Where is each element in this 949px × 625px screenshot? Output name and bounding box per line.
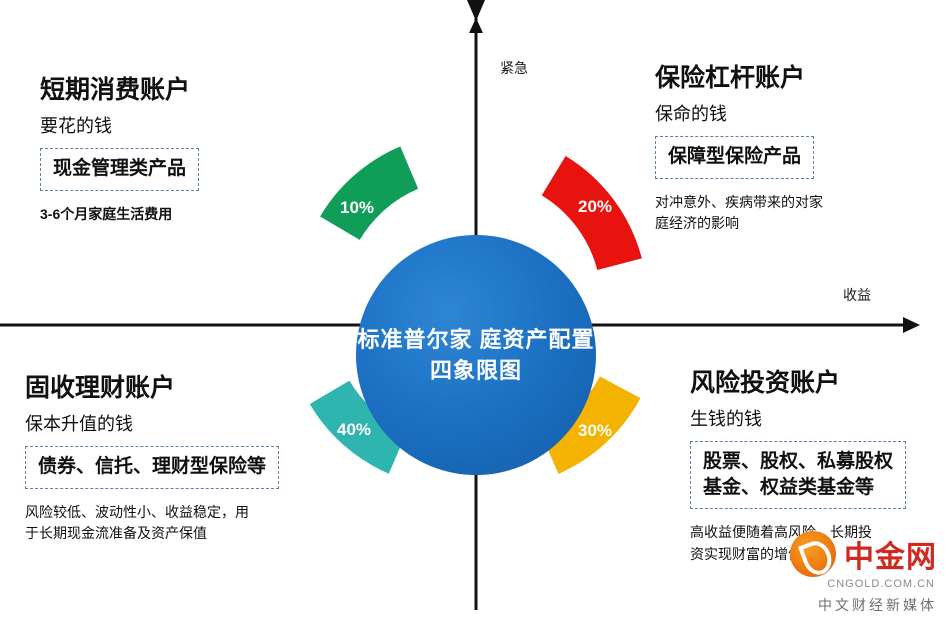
quadrant-top-right: 保险杠杆账户 保命的钱 保障型保险产品 对冲意外、疾病带来的对家 庭经济的影响 [655, 58, 935, 235]
quadrant-top-left-product: 现金管理类产品 [40, 148, 199, 191]
quadrant-top-right-title: 保险杠杆账户 [655, 58, 935, 94]
cngold-logo-icon [790, 531, 836, 577]
quadrant-top-right-subtitle: 保命的钱 [655, 100, 935, 126]
quadrant-bottom-left-subtitle: 保本升值的钱 [25, 410, 355, 436]
watermark-logo-row: 中金网 [790, 531, 937, 577]
center-circle: 标准普尔家 庭资产配置 四象限图 [356, 235, 596, 475]
segment-arc-top-right [554, 176, 620, 265]
axis-label-return: 收益 [843, 285, 871, 305]
quadrant-top-left: 短期消费账户 要花的钱 现金管理类产品 3-6个月家庭生活费用 [40, 70, 340, 225]
watermark: 中金网 CNGOLD.COM.CN 中文财经新媒体 [790, 531, 937, 615]
quadrant-bottom-left-title: 固收理财账户 [25, 368, 355, 404]
quadrant-top-left-title: 短期消费账户 [40, 70, 340, 106]
quadrant-bottom-left-note: 风险较低、波动性小、收益稳定，用 于长期现金流准备及资产保值 [25, 502, 355, 545]
quadrant-bottom-right-product: 股票、股权、私募股权 基金、权益类基金等 [690, 441, 906, 509]
percent-top-left: 10% [340, 198, 374, 218]
percent-bottom-right: 30% [578, 421, 612, 441]
quadrant-bottom-left-product: 债券、信托、理财型保险等 [25, 446, 279, 489]
quadrant-top-right-product: 保障型保险产品 [655, 136, 814, 179]
horizontal-axis-arrow [903, 317, 920, 333]
watermark-url: CNGOLD.COM.CN [827, 578, 935, 590]
quadrant-top-left-note: 3-6个月家庭生活费用 [40, 204, 340, 226]
quadrant-top-right-note: 对冲意外、疾病带来的对家 庭经济的影响 [655, 192, 890, 235]
percent-top-right: 20% [578, 197, 612, 217]
quadrant-bottom-right-title: 风险投资账户 [690, 363, 945, 399]
quadrant-bottom-left: 固收理财账户 保本升值的钱 债券、信托、理财型保险等 风险较低、波动性小、收益稳… [25, 368, 355, 545]
watermark-name: 中金网 [844, 532, 937, 576]
vertical-axis-arrow [469, 18, 483, 33]
center-title: 标准普尔家 庭资产配置 四象限图 [356, 324, 596, 386]
quadrant-top-left-subtitle: 要花的钱 [40, 112, 340, 138]
quadrant-diagram: 紧急 收益 标准普尔家 庭资产配置 四象限图 10% 20% 40% 30% 短… [0, 0, 949, 625]
watermark-tagline: 中文财经新媒体 [818, 595, 937, 615]
quadrant-bottom-right-subtitle: 生钱的钱 [690, 405, 945, 431]
axis-label-urgent: 紧急 [500, 58, 528, 78]
